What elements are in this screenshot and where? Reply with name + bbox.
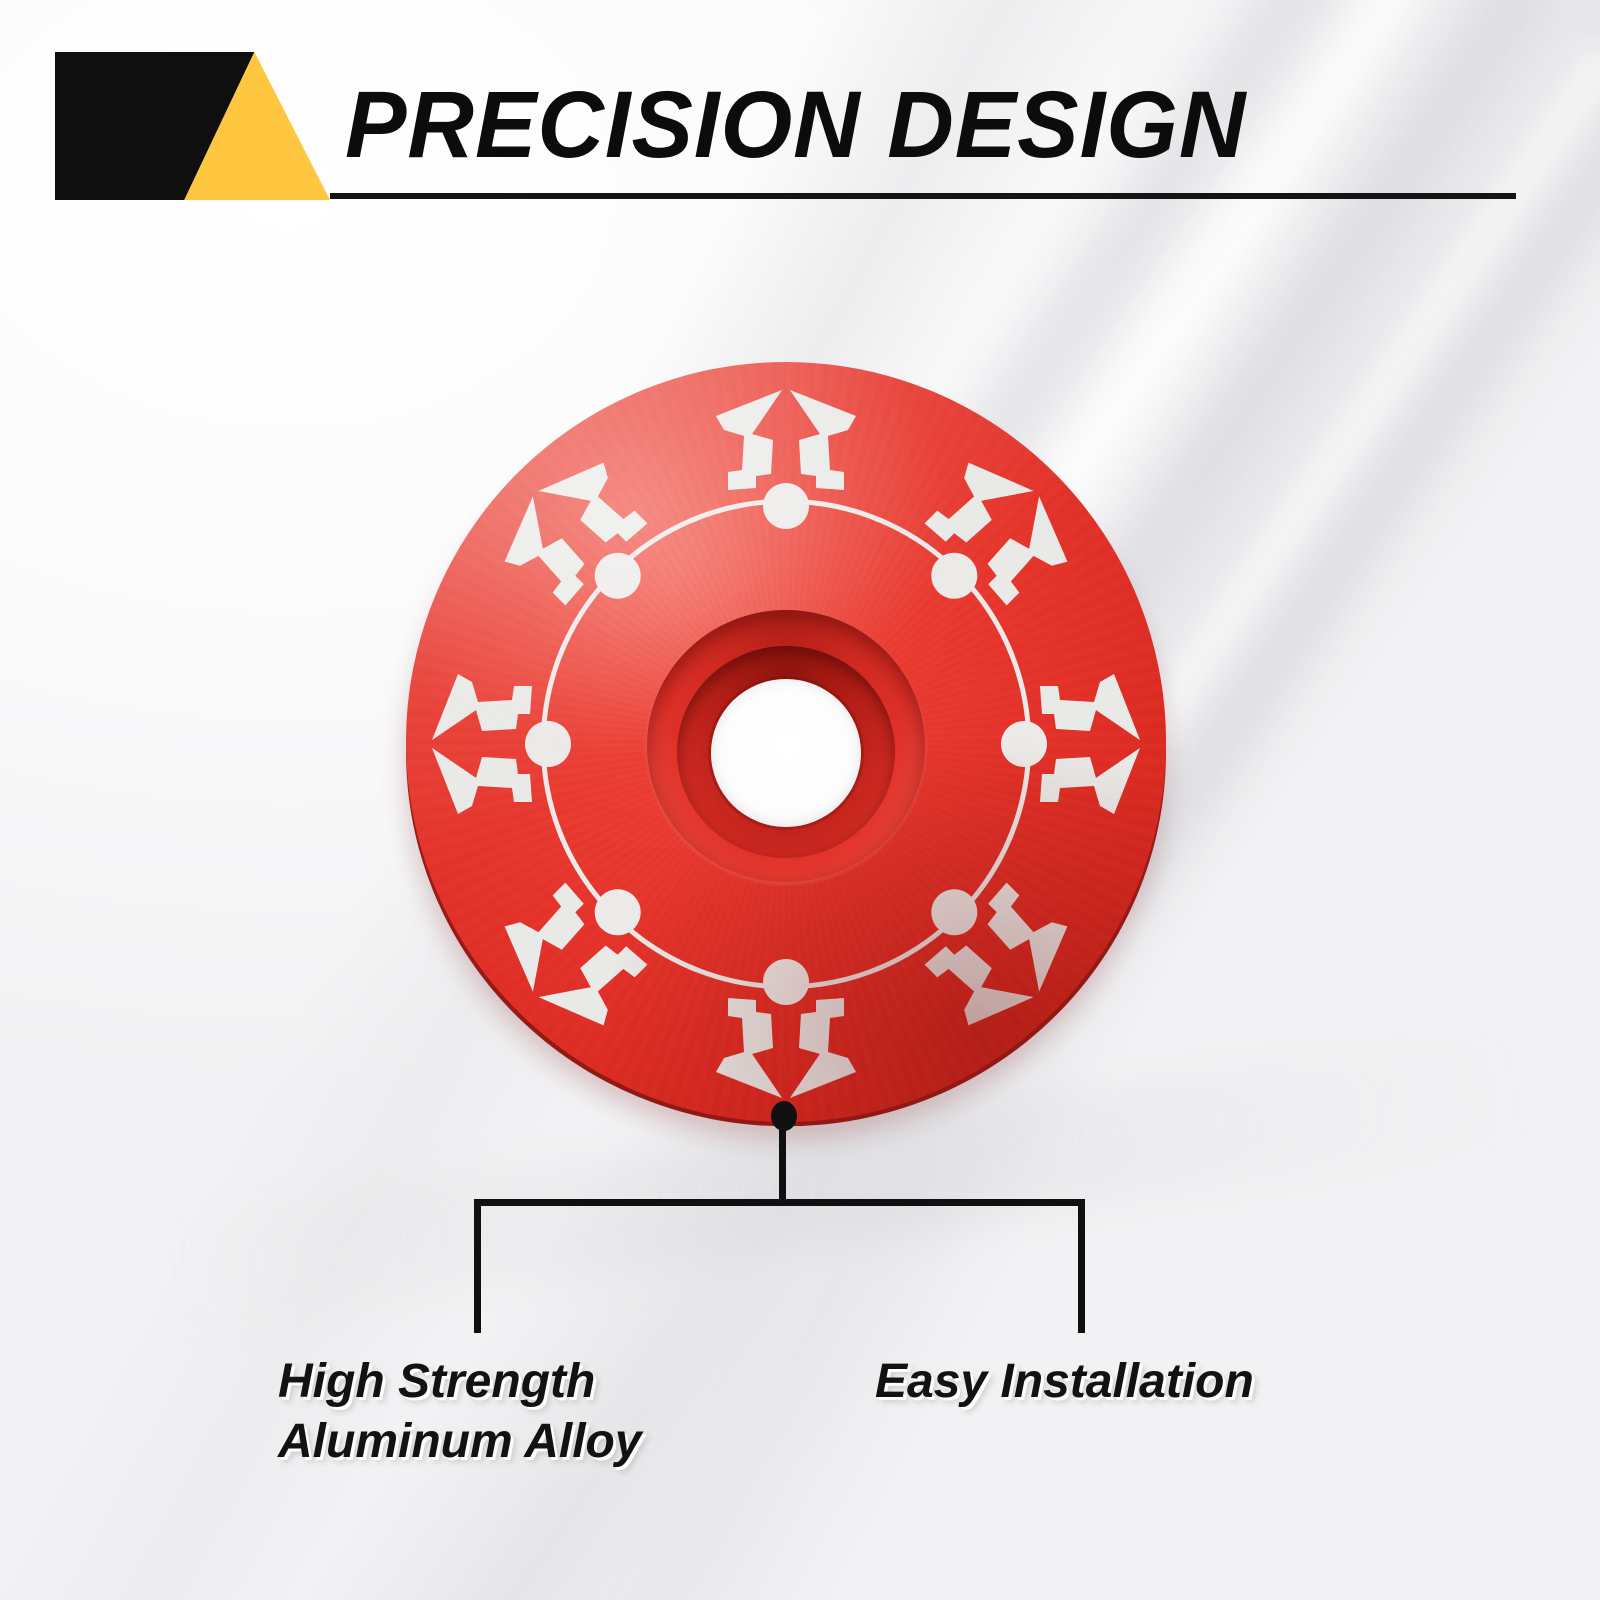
callout-horizontal-line [474, 1199, 1085, 1206]
brand-logo [55, 52, 330, 200]
callout-right-drop-line [1078, 1199, 1085, 1333]
callout-left-drop-line [474, 1199, 481, 1333]
callout-stem-line [779, 1118, 786, 1204]
product-image [406, 362, 1166, 1122]
title-underline-divider [330, 193, 1516, 199]
feature-high-strength-aluminum-alloy: High Strength Aluminum Alloy [278, 1352, 642, 1472]
page-title: PRECISION DESIGN [345, 50, 1246, 200]
header: PRECISION DESIGN [0, 0, 1600, 240]
product-feature-banner: PRECISION DESIGN [0, 0, 1600, 1600]
cap-center-hole [711, 679, 861, 827]
feature-easy-installation: Easy Installation [875, 1352, 1254, 1412]
